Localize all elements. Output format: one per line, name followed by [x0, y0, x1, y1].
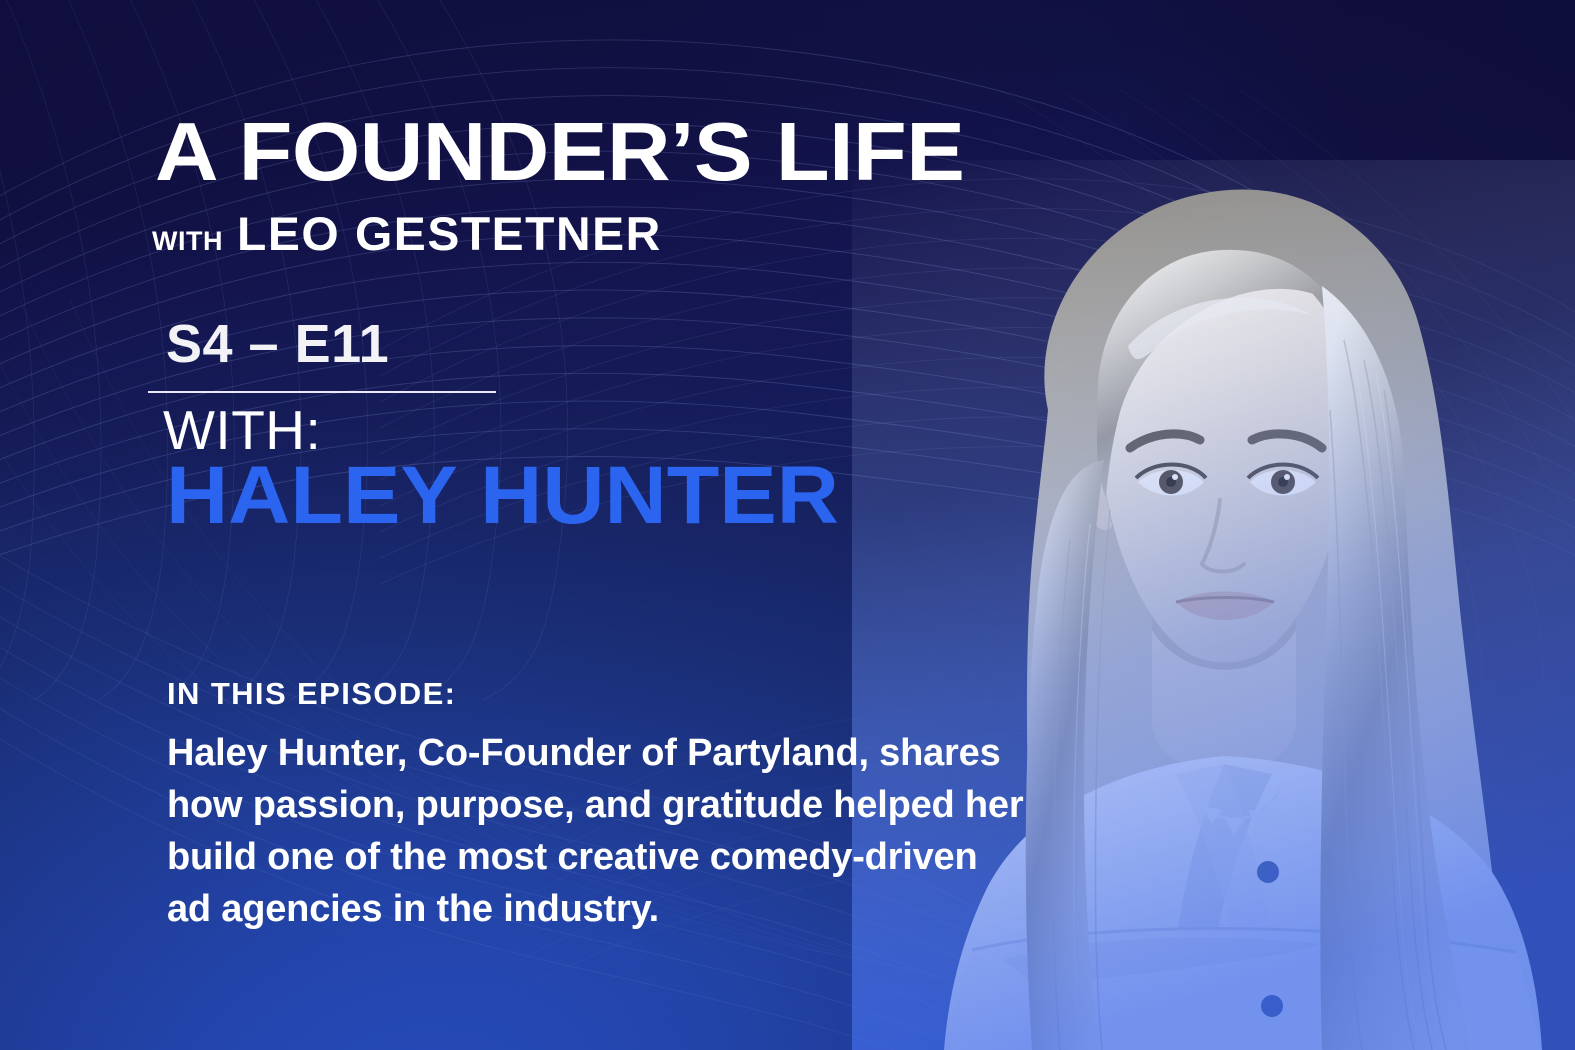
podcast-episode-card: A FOUNDER’S LIFE WITH LEO GESTETNER S4 –… [0, 0, 1575, 1050]
host-name: LEO GESTETNER [237, 206, 662, 261]
episode-description-line: how passion, purpose, and gratitude help… [167, 779, 1257, 831]
episode-code: S4 – E11 [166, 313, 389, 375]
host-line: WITH LEO GESTETNER [152, 206, 653, 261]
episode-description: Haley Hunter, Co-Founder of Partyland, s… [167, 727, 1257, 935]
guest-name: HALEY HUNTER [166, 455, 839, 537]
episode-description-line: Haley Hunter, Co-Founder of Partyland, s… [167, 727, 1257, 779]
episode-section-heading: IN THIS EPISODE: [167, 676, 456, 712]
section-divider [148, 391, 496, 393]
episode-description-line: build one of the most creative comedy-dr… [167, 831, 1257, 883]
show-title: A FOUNDER’S LIFE [155, 112, 964, 192]
text-content: A FOUNDER’S LIFE WITH LEO GESTETNER S4 –… [0, 0, 1100, 1050]
episode-description-line: ad agencies in the industry. [167, 883, 1257, 935]
host-prefix-label: WITH [152, 226, 223, 257]
